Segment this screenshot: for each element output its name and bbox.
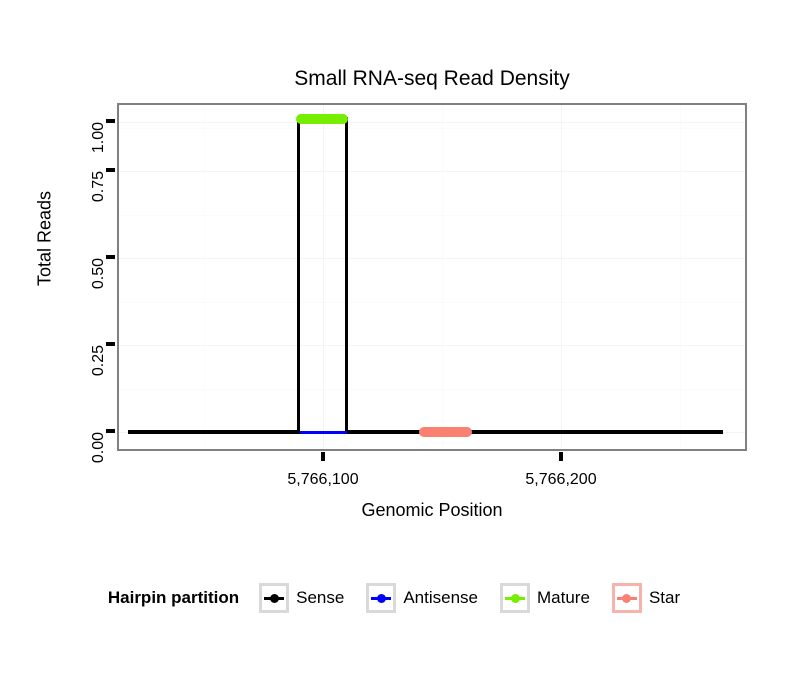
sense-baseline-right xyxy=(345,430,723,434)
legend-key-star xyxy=(612,583,642,613)
x-tick-label-1: 5,766,200 xyxy=(496,471,626,489)
gridline-h-minor-2 xyxy=(119,215,745,216)
sense-baseline-left xyxy=(128,430,300,434)
gridline-h-major-2 xyxy=(119,258,745,259)
legend: Hairpin partition Sense Antisense Mature xyxy=(0,578,810,618)
x-tick-mark-1 xyxy=(559,452,563,461)
x-axis-title: Genomic Position xyxy=(117,500,747,521)
y-axis-title: Total Reads xyxy=(35,139,56,339)
legend-key-sense xyxy=(259,583,289,613)
y-tick-label-2: 0.50 xyxy=(90,258,108,313)
gridline-v-minor-0 xyxy=(204,105,205,449)
x-tick-mark-0 xyxy=(321,452,325,461)
gridline-h-major-4 xyxy=(119,122,745,123)
sense-peak-left-riser xyxy=(297,117,300,434)
plot-panel xyxy=(117,103,747,451)
gridline-h-minor-3 xyxy=(119,128,745,129)
gridline-h-major-1 xyxy=(119,345,745,346)
gridline-v-major-0 xyxy=(323,105,324,449)
legend-label-antisense: Antisense xyxy=(403,588,478,608)
legend-key-dot-sense xyxy=(270,594,279,603)
antisense-segment xyxy=(300,431,347,434)
legend-label-sense: Sense xyxy=(296,588,344,608)
y-tick-label-0: 0.00 xyxy=(90,432,108,487)
legend-item-star[interactable]: Star xyxy=(612,583,692,613)
legend-item-mature[interactable]: Mature xyxy=(500,583,602,613)
mature-segment xyxy=(296,114,348,124)
gridline-h-minor-1 xyxy=(119,302,745,303)
y-tick-label-1: 0.25 xyxy=(90,345,108,400)
x-tick-label-0: 5,766,100 xyxy=(258,471,388,489)
gridline-h-major-3 xyxy=(119,171,745,172)
chart-figure: Small RNA-seq Read Density Total Reads G… xyxy=(0,0,810,690)
legend-key-antisense xyxy=(366,583,396,613)
legend-label-mature: Mature xyxy=(537,588,590,608)
legend-item-sense[interactable]: Sense xyxy=(259,583,356,613)
gridline-v-major-1 xyxy=(561,105,562,449)
gridline-h-minor-0 xyxy=(119,389,745,390)
y-tick-label-4: 1.00 xyxy=(90,122,108,177)
gridline-v-minor-2 xyxy=(680,105,681,449)
star-segment xyxy=(419,427,472,437)
legend-label-star: Star xyxy=(649,588,680,608)
plot-area xyxy=(119,105,745,449)
legend-key-dot-star xyxy=(622,594,631,603)
legend-title: Hairpin partition xyxy=(108,588,239,608)
legend-key-mature xyxy=(500,583,530,613)
gridline-v-minor-1 xyxy=(442,105,443,449)
sense-peak-right-riser xyxy=(345,117,348,434)
legend-key-dot-antisense xyxy=(377,594,386,603)
y-tick-label-3: 0.75 xyxy=(90,171,108,226)
chart-title: Small RNA-seq Read Density xyxy=(117,66,747,92)
legend-key-dot-mature xyxy=(511,594,520,603)
legend-item-antisense[interactable]: Antisense xyxy=(366,583,490,613)
